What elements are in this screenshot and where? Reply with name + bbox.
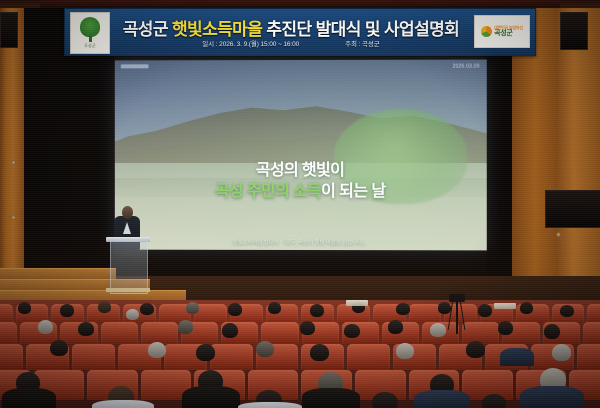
county-badge: 대한민국 농업유산 곡성군 <box>474 15 530 48</box>
wall-sign <box>346 300 368 306</box>
slide-headline: 곡성의 햇빛이 곡성 주민의 소득이 되는 날 <box>115 160 487 202</box>
seat <box>587 304 600 324</box>
audience-head <box>300 321 315 335</box>
audience-head <box>438 302 451 314</box>
audience-head <box>344 324 360 338</box>
audience-shoulders <box>520 386 584 408</box>
seat <box>583 322 600 344</box>
audience-head <box>310 304 324 317</box>
audience-head <box>560 305 574 317</box>
audience-head <box>60 304 74 317</box>
slide-date-stamp: 2026.03.09 <box>452 64 479 70</box>
seat <box>141 322 178 344</box>
audience-head <box>372 392 398 408</box>
audience-head <box>98 301 111 313</box>
slide-headline-green: 곡성 주민의 소득 <box>215 183 321 200</box>
slide-headline-line2: 곡성 주민의 소득이 되는 날 <box>115 181 487 202</box>
banner-title: 곡성군 햇빛소득마을 추진단 발대식 및 사업설명회 <box>113 15 469 40</box>
audience-head <box>478 304 492 317</box>
emblem-caption: 곡성군 <box>84 43 96 49</box>
slide-headline-line1: 곡성의 햇빛이 <box>115 160 487 181</box>
seat <box>0 344 23 370</box>
audience-shoulders <box>182 386 240 408</box>
audience-shoulders <box>302 388 360 408</box>
banner-datetime: 일시 : 2026. 3. 9.(월) 15:00 ~ 16:00 <box>202 38 299 48</box>
audience-shoulders <box>238 402 302 408</box>
badge-text: 대한민국 농업유산 곡성군 <box>494 26 523 38</box>
wall-speaker-right <box>545 190 600 228</box>
badge-mark-icon <box>481 26 492 37</box>
audience-head <box>50 340 68 356</box>
audience-head <box>222 323 238 338</box>
audience-head <box>178 320 193 334</box>
audience-head <box>544 324 560 339</box>
seat <box>0 322 17 344</box>
slide-caption: 햇빛소득마을 발대식 「모두, 곡성의 햇빛 마을을 심습니다」 <box>115 238 487 247</box>
wall-light-icon <box>556 232 561 237</box>
audience-head <box>186 302 199 314</box>
seat <box>210 344 253 370</box>
podium-base <box>106 288 150 292</box>
wall-light-icon <box>11 215 16 220</box>
audience-head <box>552 344 571 361</box>
audience-shoulders <box>414 390 470 408</box>
audience-head <box>520 302 533 314</box>
auditorium-event-photo: 곡성군 곡성군 햇빛소득마을 추진단 발대식 및 사업설명회 일시 : 2026… <box>0 0 600 408</box>
speaker-person-head <box>122 206 133 219</box>
ceiling-speaker-right <box>560 12 588 50</box>
audience-head <box>126 309 139 320</box>
seat <box>72 344 115 370</box>
seat <box>194 304 227 324</box>
seat <box>347 344 390 370</box>
audience-head <box>388 320 403 334</box>
audience-head <box>256 341 274 357</box>
wall-light-icon <box>11 160 16 165</box>
audience-shoulders <box>92 400 154 408</box>
seat <box>409 304 442 324</box>
ceiling-speaker-left <box>0 12 18 48</box>
audience-head <box>310 344 329 361</box>
tree-emblem-icon <box>80 17 100 37</box>
banner-host: 주최 : 곡성군 <box>345 38 380 48</box>
audience-head <box>228 303 242 316</box>
audience-head <box>196 344 215 361</box>
wall-sign <box>494 303 516 309</box>
seat <box>462 322 499 344</box>
slide-corner-mark <box>121 64 149 68</box>
seat <box>0 304 13 324</box>
audience-head <box>396 303 410 315</box>
audience-head <box>140 303 154 315</box>
event-banner: 곡성군 곡성군 햇빛소득마을 추진단 발대식 및 사업설명회 일시 : 2026… <box>64 8 536 56</box>
seat <box>101 322 138 344</box>
projection-screen: 2026.03.09 곡성의 햇빛이 곡성 주민의 소득이 되는 날 햇빛소득마… <box>115 60 487 251</box>
slide-overlay-veil <box>115 60 487 251</box>
audience-seating <box>0 300 600 408</box>
slide-headline-rest: 이 되는 날 <box>321 183 385 200</box>
audience-shoulders <box>500 348 534 366</box>
badge-line2: 곡성군 <box>494 30 523 37</box>
banner-subtitle: 일시 : 2026. 3. 9.(월) 15:00 ~ 16:00 주최 : 곡… <box>113 38 469 48</box>
gokseong-emblem: 곡성군 <box>70 12 110 54</box>
audience-head <box>482 394 506 408</box>
audience-head <box>148 342 166 358</box>
audience-head <box>18 302 31 314</box>
audience-head <box>466 341 485 358</box>
audience-head <box>498 321 513 335</box>
audience-head <box>430 323 446 337</box>
seat-row <box>0 370 600 400</box>
audience-shoulders <box>2 388 56 408</box>
banner-title-highlight: 햇빛소득마을 <box>172 20 262 39</box>
seat <box>577 344 600 370</box>
banner-title-part2: 추진단 발대식 및 사업설명회 <box>262 20 459 39</box>
audience-head <box>396 343 414 359</box>
audience-head <box>78 322 94 336</box>
acrylic-podium <box>110 240 148 294</box>
audience-head <box>38 320 53 334</box>
banner-title-part1: 곡성군 <box>123 20 172 39</box>
camera-tripod <box>456 300 458 334</box>
audience-head <box>268 302 281 314</box>
